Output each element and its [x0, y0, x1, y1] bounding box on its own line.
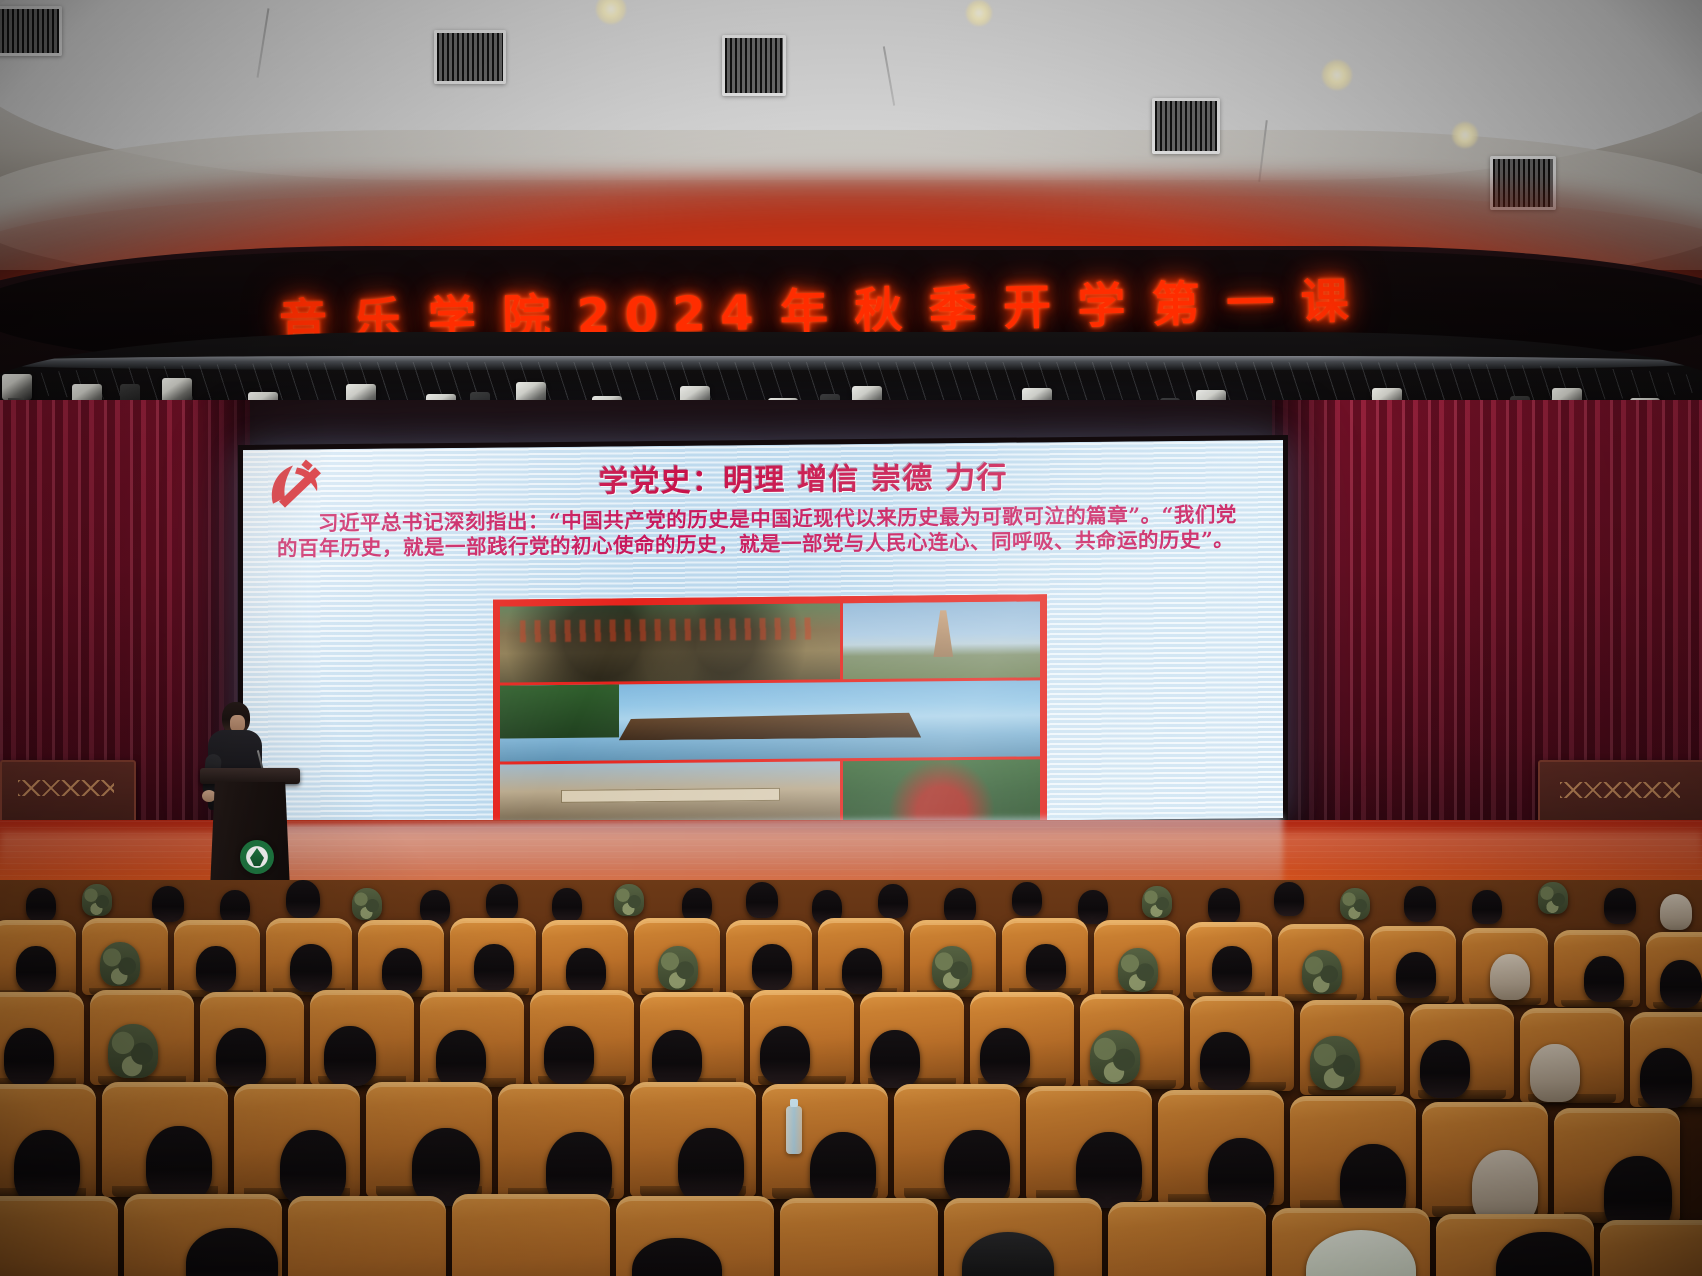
hvac-vent-icon: [722, 35, 786, 96]
attendee-head: [382, 948, 422, 994]
led-banner-char: 学: [1071, 265, 1147, 336]
wall-decor-zigzag-left: [18, 780, 114, 796]
hvac-vent-icon: [434, 30, 506, 84]
attendee-head: [980, 1028, 1030, 1086]
attendee-head-camo-cap: [1090, 1030, 1140, 1084]
attendee-head: [486, 884, 518, 920]
attendee-head: [1200, 1032, 1250, 1090]
attendee-head: [1660, 894, 1692, 930]
attendee-head-camo-cap: [1538, 882, 1568, 914]
school-crest-icon: [240, 840, 274, 874]
auditorium-seat[interactable]: [1108, 1202, 1266, 1276]
attendee-head: [152, 886, 184, 922]
auditorium-seat[interactable]: [452, 1194, 610, 1276]
attendee-head: [1012, 882, 1042, 916]
attendee-head: [944, 1130, 1010, 1206]
attendee-head-camo-cap: [932, 946, 972, 990]
attendee-head: [220, 890, 250, 924]
attendee-head: [1078, 890, 1108, 924]
auditorium-seat[interactable]: [1600, 1220, 1702, 1276]
led-banner-char: 课: [1294, 261, 1370, 332]
hvac-vent-icon: [0, 6, 62, 56]
auditorium-seat[interactable]: [0, 1196, 118, 1276]
attendee-head: [1604, 888, 1636, 924]
podium-top-surface: [200, 768, 300, 784]
attendee-head-camo-cap: [1302, 950, 1342, 994]
attendee-head: [1404, 886, 1436, 922]
attendee-head: [146, 1126, 212, 1202]
photo-memorial-relief-wall: [500, 603, 840, 682]
attendee-head: [842, 948, 882, 994]
led-banner-char: 第: [1145, 264, 1221, 335]
podium: [204, 768, 296, 890]
attendee-head: [1640, 1048, 1692, 1108]
attendee-head: [436, 1030, 486, 1088]
attendee-head: [420, 890, 450, 924]
attendee-head: [1530, 1044, 1580, 1102]
attendee-head: [1396, 952, 1436, 998]
photo-martyrs-monument: [843, 601, 1040, 679]
auditorium-seat[interactable]: [288, 1196, 446, 1276]
attendee-head-camo-cap: [1310, 1036, 1360, 1090]
attendee-head: [1660, 960, 1702, 1008]
attendee-head-camo-cap: [82, 884, 112, 916]
attendee-head: [216, 1028, 266, 1086]
attendee-head: [196, 946, 236, 992]
attendee-head: [760, 1026, 810, 1084]
led-banner-char: 开: [996, 267, 1072, 338]
attendee-head: [878, 884, 908, 918]
podium-body: [210, 782, 290, 890]
attendee-head-camo-cap: [1340, 888, 1370, 920]
stage-light-icon: [2, 374, 32, 400]
attendee-head: [290, 944, 332, 992]
attendee-head: [1212, 946, 1252, 992]
attendee-head: [552, 888, 582, 922]
attendee-head: [652, 1030, 702, 1088]
led-banner-char: 季: [922, 268, 998, 339]
attendee-head-camo-cap: [1142, 886, 1172, 918]
attendee-head: [14, 1130, 80, 1206]
attendee-head: [1472, 890, 1502, 924]
ceiling-downlight: [966, 0, 992, 26]
projection-screen: 学党史：明理 增信 崇德 力行 习近平总书记深刻指出：“中国共产党的历史是中国近…: [243, 440, 1283, 828]
attendee-head: [1026, 944, 1066, 990]
attendee-head: [1584, 956, 1624, 1002]
attendee-head: [16, 946, 56, 992]
audience-seating-area: [0, 880, 1702, 1276]
attendee-head: [1490, 954, 1530, 1000]
attendee-head: [4, 1028, 54, 1086]
auditorium-photo: 音乐学院2024年秋季开学第一课: [0, 0, 1702, 1276]
attendee-head: [870, 1030, 920, 1088]
attendee-head: [752, 944, 792, 990]
attendee-head: [566, 948, 606, 994]
attendee-head: [682, 888, 712, 922]
slide-photo-collage: [493, 594, 1047, 828]
water-bottle: [786, 1106, 802, 1154]
photo-memorial-gate: [500, 761, 840, 828]
attendee-head-camo-cap: [614, 884, 644, 916]
slide-body-text: 习近平总书记深刻指出：“中国共产党的历史是中国近现代以来历史最为可歌可泣的篇章”…: [277, 502, 1252, 561]
attendee-head: [26, 888, 56, 922]
attendee-head: [810, 1132, 876, 1208]
attendee-head-camo-cap: [658, 946, 698, 990]
attendee-head: [286, 880, 320, 918]
attendee-head: [474, 944, 514, 990]
party-hammer-sickle-emblem-icon: [263, 457, 327, 514]
slide-title: 学党史：明理 增信 崇德 力行: [363, 450, 1243, 502]
led-banner-char: 一: [1219, 263, 1295, 334]
attendee-head-camo-cap: [1118, 948, 1158, 992]
attendee-head: [544, 1026, 594, 1084]
ceiling-downlight: [1322, 60, 1352, 90]
auditorium-seat[interactable]: [780, 1198, 938, 1276]
photo-lake-boat-exhibit: [500, 680, 1040, 761]
attendee-head: [746, 882, 778, 918]
attendee-head: [280, 1130, 346, 1206]
hvac-vent-icon: [1152, 98, 1220, 154]
attendee-head-camo-cap: [352, 888, 382, 920]
attendee-head-camo-cap: [100, 942, 140, 986]
attendee-head: [1208, 888, 1240, 924]
attendee-head: [1076, 1132, 1142, 1208]
attendee-head: [678, 1128, 744, 1204]
led-banner-char: 秋: [847, 270, 923, 341]
ceiling-downlight: [1452, 122, 1478, 148]
attendee-head: [324, 1026, 376, 1086]
attendee-head: [1420, 1040, 1470, 1098]
wall-decor-zigzag-right: [1560, 782, 1680, 798]
attendee-head: [1274, 882, 1304, 916]
attendee-head-camo-cap: [108, 1024, 158, 1078]
attendee-head: [944, 888, 976, 924]
